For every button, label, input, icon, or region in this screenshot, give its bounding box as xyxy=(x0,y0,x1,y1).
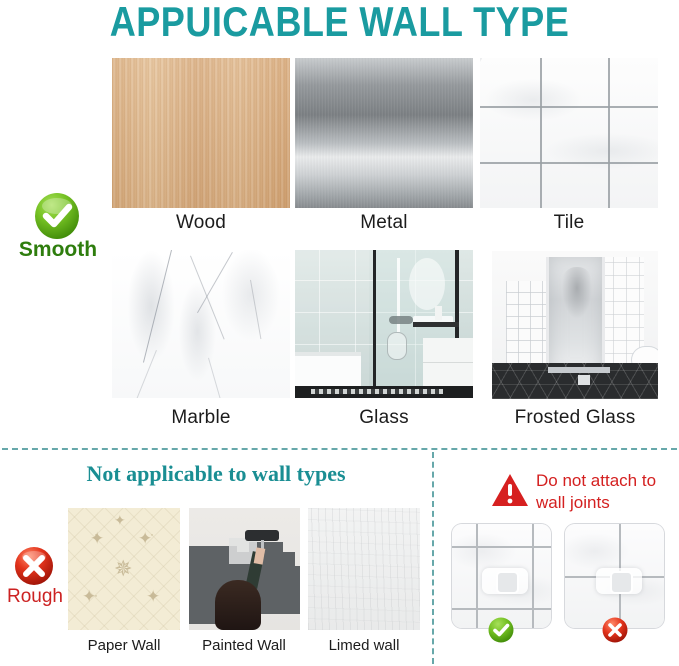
sample-image-wood xyxy=(112,58,290,208)
sample-image-frosted-glass xyxy=(492,251,658,399)
diagram-incorrect-placement xyxy=(565,524,664,628)
sample-image-limed-wall xyxy=(308,508,420,630)
tile-grout-lines xyxy=(480,58,658,208)
caption-painted-wall: Painted Wall xyxy=(180,637,308,654)
caption-paper-wall: Paper Wall xyxy=(60,637,188,654)
diagram-incorrect-badge-red-x-badge-icon xyxy=(601,616,629,644)
caption-glass: Glass xyxy=(295,407,473,429)
diagram-correct-badge-green-check-badge-icon xyxy=(487,616,515,644)
diagram-correct-placement xyxy=(452,524,551,628)
caption-metal: Metal xyxy=(295,212,473,234)
page-title: APPUICABLE WALL TYPE xyxy=(48,0,632,46)
green-check-badge-icon xyxy=(32,191,82,241)
sample-image-painted-wall xyxy=(189,508,300,630)
red-x-badge-icon xyxy=(13,545,55,587)
sample-image-marble xyxy=(112,250,290,398)
smooth-label: Smooth xyxy=(8,238,108,262)
sample-image-tile xyxy=(480,58,658,208)
caption-tile: Tile xyxy=(480,212,658,234)
caption-marble: Marble xyxy=(112,407,290,429)
caption-limed-wall: Limed wall xyxy=(300,637,428,654)
infographic-page: APPUICABLE WALL TYPE Smooth Wood Metal xyxy=(0,0,679,666)
warning-text: Do not attach to wall joints xyxy=(536,470,676,514)
horizontal-divider xyxy=(2,448,677,450)
warning-triangle-icon xyxy=(491,473,529,507)
sample-image-glass xyxy=(295,250,473,398)
vertical-divider xyxy=(432,452,434,664)
caption-frosted-glass: Frosted Glass xyxy=(480,407,670,429)
warning-line-1: Do not attach to xyxy=(536,470,676,492)
sample-image-metal xyxy=(295,58,473,208)
not-applicable-heading: Not applicable to wall types xyxy=(56,461,376,487)
caption-wood: Wood xyxy=(112,212,290,234)
warning-line-2: wall joints xyxy=(536,492,676,514)
sample-image-paper-wall: ✦ ✦ ✵ ✦ ✦ ✦ xyxy=(68,508,180,630)
rough-label: Rough xyxy=(0,586,70,608)
